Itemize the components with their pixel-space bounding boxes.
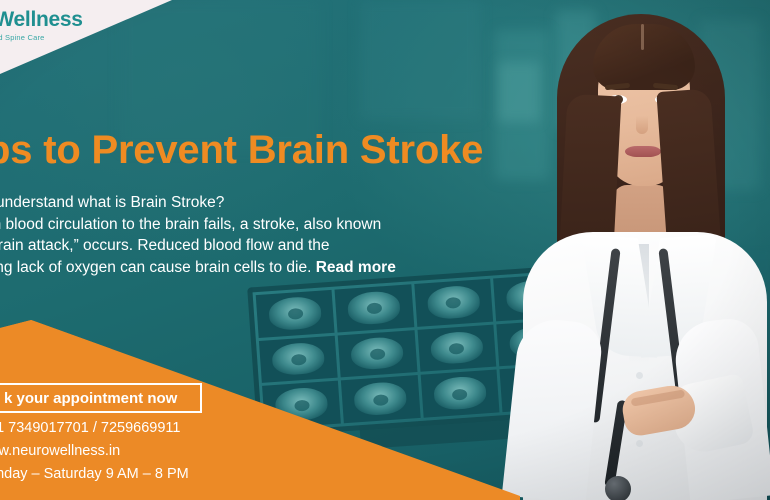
contact-website[interactable]: ww.neurowellness.in [0,440,189,463]
body-line-2: en blood circulation to the brain fails,… [0,214,544,236]
promo-banner: roWellness rain and Spine Care ps to Pre… [0,0,770,500]
brand-logo[interactable]: roWellness rain and Spine Care [0,8,150,42]
body-line-3: “brain attack,” occurs. Reduced blood fl… [0,235,544,257]
body-copy: s understand what is Brain Stroke? en bl… [0,192,544,278]
contact-hours: onday – Saturday 9 AM – 8 PM [0,463,189,486]
contact-details: 91 7349017701 / 7259669911 ww.neurowelln… [0,417,189,486]
body-line-1: s understand what is Brain Stroke? [0,192,544,214]
contact-phone[interactable]: 91 7349017701 / 7259669911 [0,417,189,440]
body-line-4: lting lack of oxygen can cause brain cel… [0,257,544,279]
appointment-cta-button[interactable]: k your appointment now [0,383,202,413]
read-more-link[interactable]: Read more [316,259,396,276]
logo-title: roWellness [0,8,150,32]
appointment-cta-label: k your appointment now [4,390,177,407]
page-title: ps to Prevent Brain Stroke [0,128,483,173]
logo-tagline: rain and Spine Care [0,33,150,42]
body-line-4-text: lting lack of oxygen can cause brain cel… [0,259,316,276]
